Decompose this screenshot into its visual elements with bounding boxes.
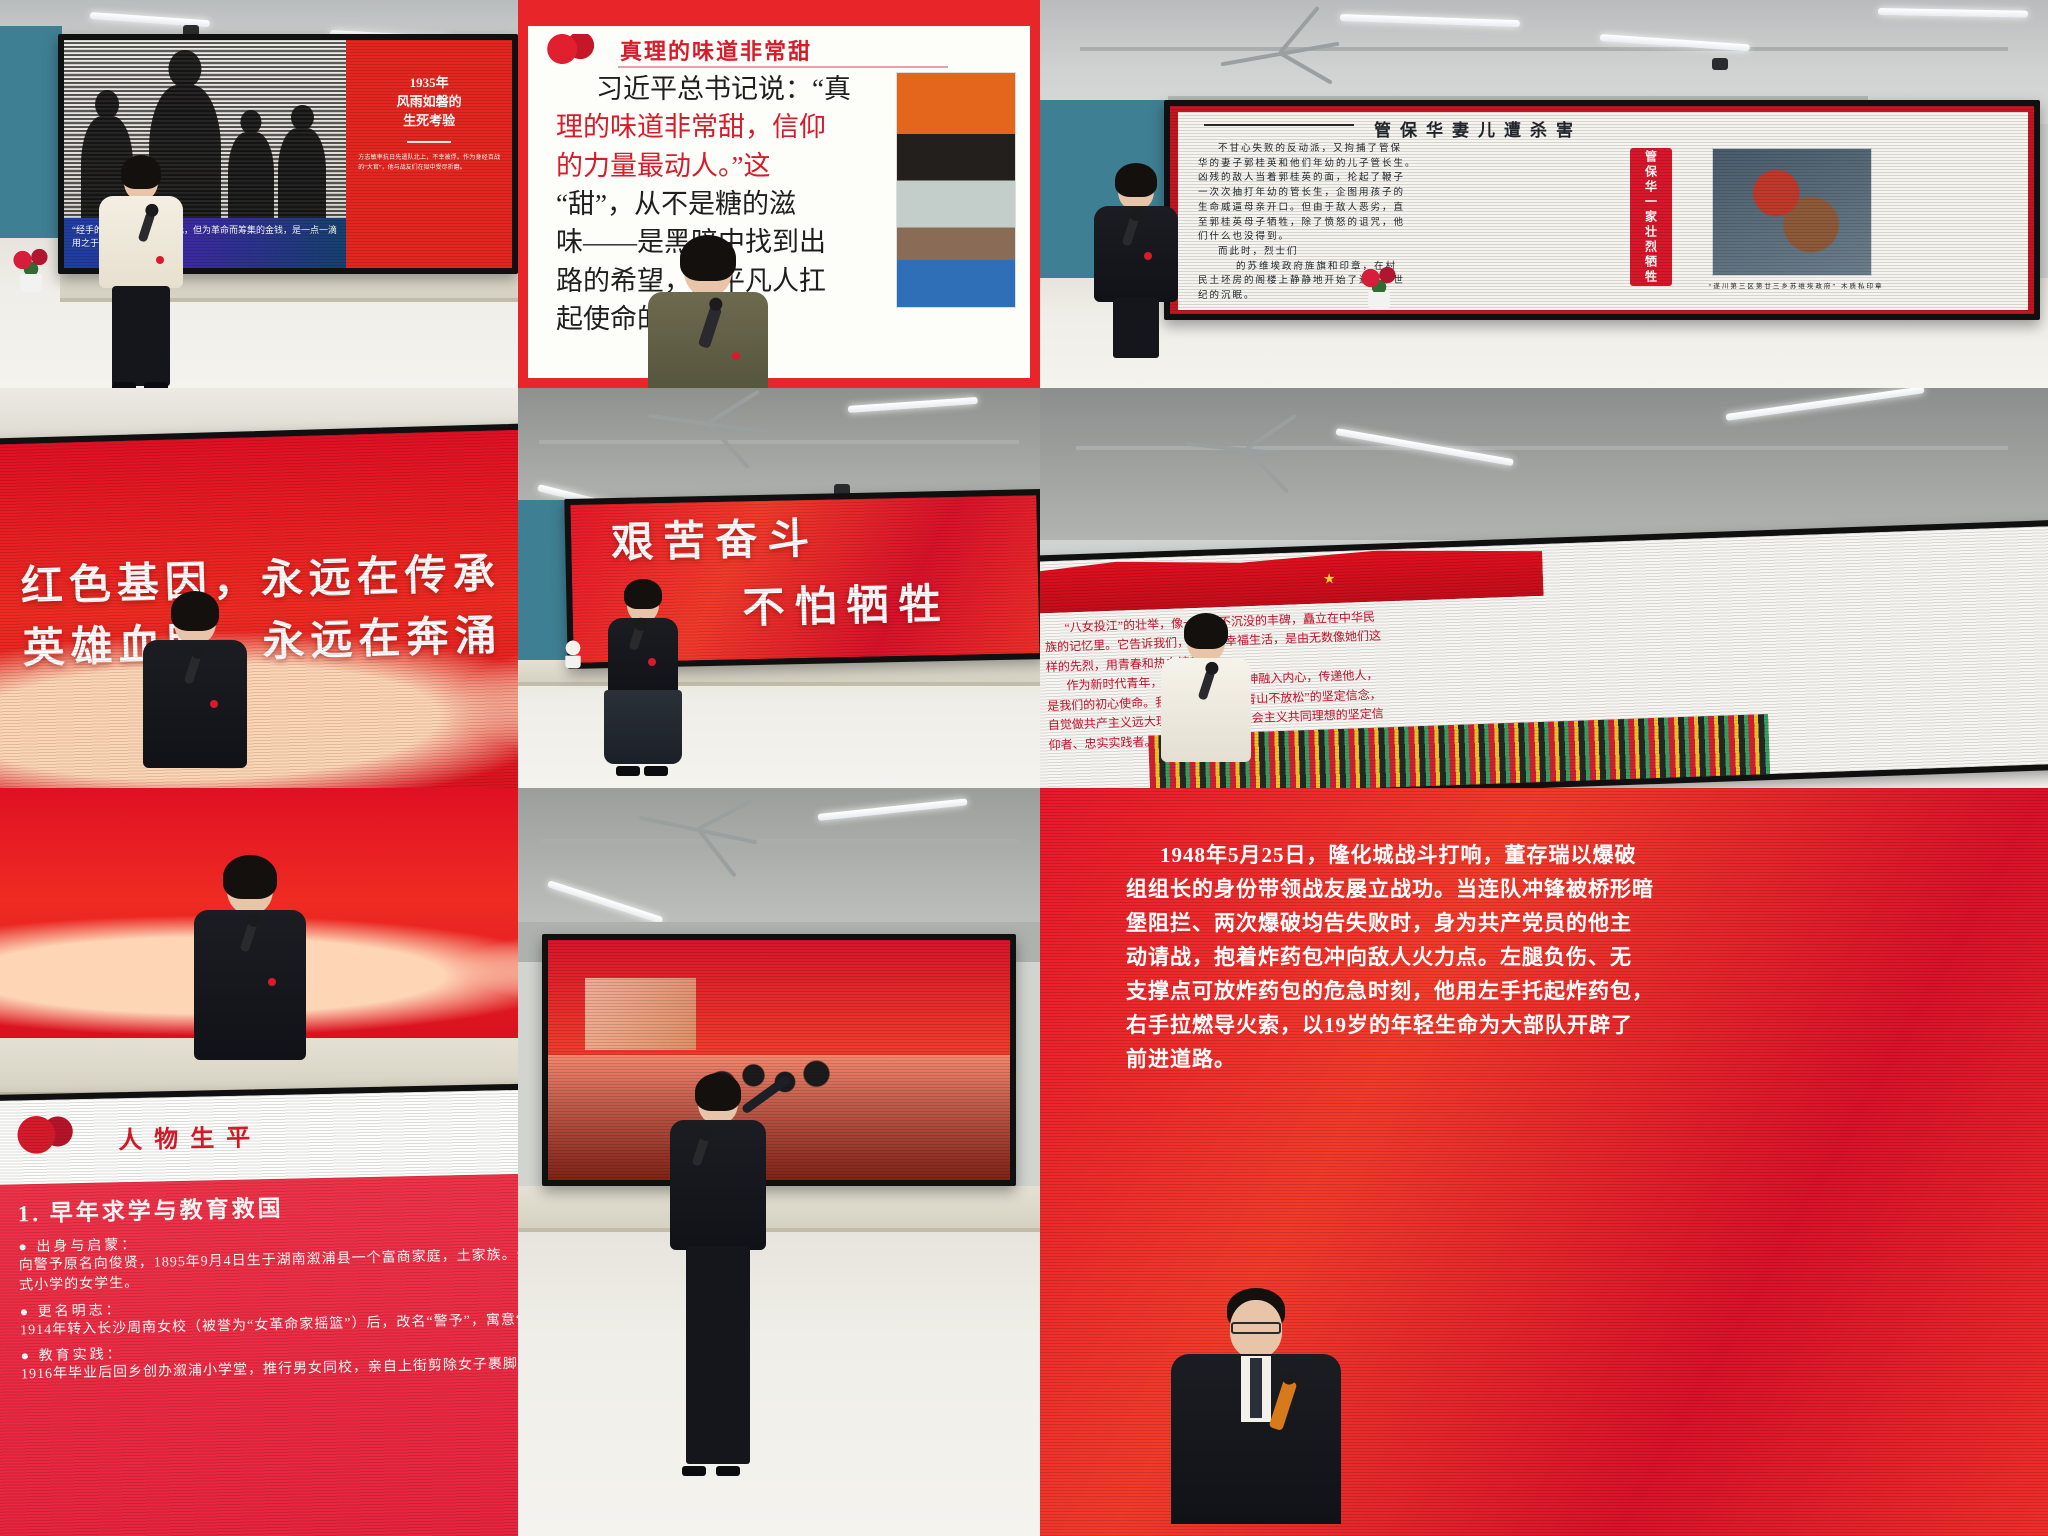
flag-decoration: ★ [1036, 544, 1544, 614]
slide-line-7: 们什么也没得到。 [1198, 230, 1598, 245]
collage-cell-middle-center-overlay: 艰苦奋斗 不怕牺牲 [518, 388, 1040, 788]
slide-header: 人物生平 [118, 1117, 263, 1155]
bullet-label-text: 出身与启蒙： [36, 1238, 138, 1255]
torso [670, 1120, 766, 1250]
party-badge [210, 700, 218, 708]
party-badge [648, 658, 656, 666]
slide-line-7: 前进道路。 [1126, 1042, 2008, 1076]
bullet-dot-icon: ● [20, 1305, 32, 1320]
slide-seal-photo [1712, 148, 1872, 276]
hair-top [1115, 163, 1157, 197]
camera-icon [1712, 58, 1728, 70]
hair-top [1184, 613, 1228, 649]
shoe [682, 1466, 706, 1476]
slide-line-3: 的力量最动人。”这 [556, 147, 896, 185]
party-badge [732, 352, 740, 360]
banner-line-2: 英雄血脉，永远在奔涌 [22, 612, 503, 675]
potted-plant [557, 632, 589, 668]
divider [407, 141, 451, 143]
slide-line-4: 一次次抽打年幼的管长生，企图用孩子的 [1198, 186, 1598, 201]
banner-line-1: 红色基因，永远在传承 [20, 550, 501, 613]
slide-line-5: 支撑点可放炸药包的危急时刻，他用左手托起炸药包， [1126, 974, 2008, 1008]
slide-title: 真理的味道非常甜 [620, 34, 812, 66]
collage-cell-top-center-overlay: 真理的味道非常甜 习近平总书记说：“真 理的味道非常甜，信仰 的力量最动人。”这… [518, 0, 1040, 388]
illustration-sky [585, 978, 696, 1050]
slide-image-caption: “遂川第三区第廿三乡苏维埃政府” 木质私印章 [1706, 282, 1886, 292]
slide-line-4: “甜”，从不是糖的滋 [556, 185, 896, 223]
slide-line-5: 生命威逼母亲开口。但由于敌人恶劣，直 [1198, 201, 1598, 216]
shoe [716, 1466, 740, 1476]
legs [112, 286, 170, 386]
ribbon-decoration-icon [544, 34, 596, 64]
party-badge [156, 256, 164, 264]
speaker-figure [648, 1078, 788, 1478]
slide-line-1: 1948年5月25日，隆化城战斗打响，董存瑞以爆破 [1126, 838, 2008, 872]
slide-line-2: 理的味道非常甜，信仰 [556, 108, 896, 146]
banner-line-1: 艰苦奋斗 [611, 516, 820, 570]
shoe [644, 766, 668, 776]
potted-plant [1356, 258, 1402, 310]
legs [686, 1246, 750, 1464]
speaker-figure [1156, 618, 1256, 788]
collage-cell-bottom-center-overlay [518, 788, 1040, 1536]
torso [99, 196, 183, 288]
party-badge [1144, 252, 1152, 260]
bullet-dot-icon: ● [21, 1349, 33, 1364]
slide-line-6: 至郭桂英母子牺牲，除了愤怒的诅咒，他 [1198, 216, 1598, 231]
slide-canvas: 真理的味道非常甜 习近平总书记说：“真 理的味道非常甜，信仰 的力量最动人。”这… [528, 26, 1030, 378]
slide-title: 管保华妻儿遭杀害 [1374, 118, 1582, 144]
hair-top [695, 1073, 741, 1111]
hair-top [680, 235, 736, 281]
slide-line-3: 凶残的敌人当着郭桂英的面，抡起了鞭子 [1198, 171, 1598, 186]
slide-side-photo [896, 72, 1016, 308]
bullet-label-text: 教育实践： [38, 1347, 123, 1364]
ribbon-decoration-icon [16, 1115, 75, 1158]
speaker-figure [96, 160, 186, 388]
slide-headline-3: 生死考验 [403, 112, 455, 131]
slide-line-1: 不甘心失败的反动派，又拘捕了管保 [1198, 142, 1598, 157]
slide-red-panel: 1935年 风雨如磐的 生死考验 方志敏率抗日先遣队北上，不幸被俘。作为身经百战… [346, 40, 512, 268]
slide-section-title: 1. 早年求学与教育救国 [17, 1189, 284, 1229]
star-icon: ★ [1323, 571, 1336, 585]
bullet-dot-icon: ● [18, 1240, 30, 1255]
slide-line-2: 华的妻子郭桂英和他们年幼的儿子管长生。 [1198, 157, 1598, 172]
slide-canvas: 管保华妻儿遭杀害 不甘心失败的反动派，又拘捕了管保 华的妻子郭桂英和他们年幼的儿… [1178, 112, 2028, 310]
slide-line-2: 组组长的身份带领战友屡立战功。当连队冲锋被桥形暗 [1126, 872, 2008, 906]
slide-body: 方志敏率抗日先遣队北上，不幸被俘。作为身经百战的“大官”，他与战友们在狱中受尽折… [346, 153, 512, 175]
shoe [616, 766, 640, 776]
speaker-figure [140, 596, 250, 786]
party-badge [268, 978, 276, 986]
slide-line-4: 动请战，抱着炸药包冲向敌人火力点。左腿负伤、无 [1126, 940, 2008, 974]
collage-cell-bottom-right: 1948年5月25日，隆化城战斗打响，董存瑞以爆破 组组长的身份带领战友屡立战功… [1036, 788, 2048, 1536]
necktie [1250, 1358, 1262, 1418]
speaker-figure [598, 584, 688, 774]
slide-vertical-tag: 管保华一家壮烈牺牲 [1630, 148, 1672, 286]
slide-headline-2: 风雨如磐的 [397, 93, 462, 112]
divider [1204, 124, 1354, 126]
slide-text-block: 1948年5月25日，隆化城战斗打响，董存瑞以爆破 组组长的身份带领战友屡立战功… [1126, 838, 2008, 1076]
speaker-figure [648, 240, 768, 388]
slide-line-1: 习近平总书记说：“真 [556, 70, 896, 108]
speaker-figure [190, 860, 310, 1100]
hair-top [624, 579, 662, 609]
slide-line-3: 堡阻拦、两次爆破均告失败时，身为共产党员的他主 [1126, 906, 2008, 940]
skirt [604, 690, 682, 764]
speaker-figure [1156, 1288, 1356, 1536]
ceiling [1036, 388, 2048, 540]
hair-top [171, 591, 219, 631]
slide-headline-1: 1935年 [410, 74, 449, 93]
hair-top [223, 855, 277, 899]
hair-top [121, 155, 161, 189]
legs [1113, 298, 1159, 358]
speaker-figure [1086, 168, 1186, 358]
potted-plant [8, 240, 54, 292]
banner-line-2: 不怕牺牲 [742, 581, 951, 635]
bullet-label-text: 更名明志： [38, 1303, 123, 1320]
collage-cell-middle-right: ★ “八女投江”的壮举，像一座永不沉没的丰碑，矗立在中华民 族的记忆里。它告诉我… [1036, 388, 2048, 788]
slide-line-6: 右手拉燃导火索，以19岁的年轻生命为大部队开辟了 [1126, 1008, 2008, 1042]
divider [618, 66, 948, 68]
raised-arm [741, 1074, 792, 1114]
glasses-icon [1231, 1322, 1281, 1334]
led-screen: 管保华妻儿遭杀害 不甘心失败的反动派，又拘捕了管保 华的妻子郭桂英和他们年幼的儿… [1164, 100, 2040, 320]
collage-cell-top-right-overlay: 管保华妻儿遭杀害 不甘心失败的反动派，又拘捕了管保 华的妻子郭桂英和他们年幼的儿… [1040, 0, 2048, 388]
